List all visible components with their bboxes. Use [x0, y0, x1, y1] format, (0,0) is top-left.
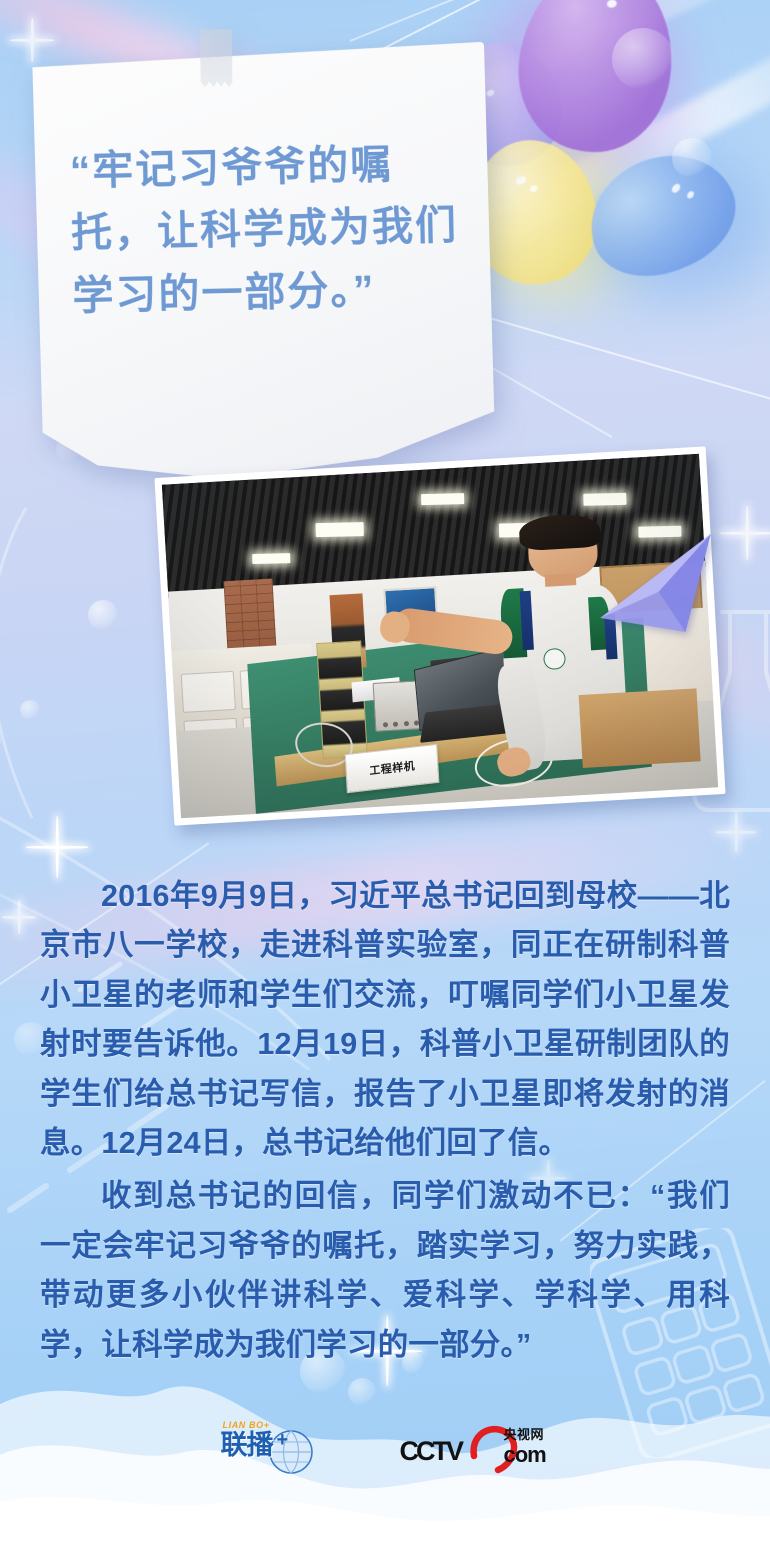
lianbo-plus-text: +	[277, 1430, 289, 1450]
quote-note: “牢记习爷爷的嘱托，让科学成为我们学习的一部分。”	[32, 42, 496, 484]
balloon-glow	[480, 0, 680, 180]
cctv-wordmark-text: CCTV	[400, 1438, 462, 1465]
lianbo-latin-text: LIAN BO+	[223, 1420, 270, 1430]
bokeh-circle	[88, 600, 118, 630]
lianbo-cn-text: 联播	[221, 1432, 273, 1459]
bokeh-circle	[20, 700, 40, 720]
footer-logos: LIAN BO+ 联播 + CCTV 央视网 com	[0, 1418, 770, 1480]
logo-divider	[361, 1432, 362, 1466]
poster-root: “牢记习爷爷的嘱托，让科学成为我们学习的一部分。”	[0, 0, 770, 1545]
bokeh-circle	[672, 138, 712, 178]
lianbo-logo[interactable]: LIAN BO+ 联播 +	[219, 1418, 323, 1480]
balloon-glow	[590, 150, 770, 300]
sparkle-icon	[720, 506, 770, 560]
bokeh-circle	[348, 1378, 376, 1406]
cctv-com-text: com	[504, 1444, 546, 1466]
atom-doodle-icon	[0, 500, 164, 830]
cctv-logo[interactable]: CCTV 央视网 com	[400, 1422, 552, 1476]
paragraph: 收到总书记的回信，同学们激动不已：“我们一定会牢记习爷爷的嘱托，踏实学习，努力实…	[40, 1172, 730, 1370]
sparkle-icon	[716, 812, 756, 852]
paper-plane-icon	[592, 526, 719, 640]
tape-strip-icon	[200, 29, 233, 87]
guide-line	[350, 0, 770, 42]
balloon-purple-icon	[508, 0, 684, 162]
cctv-cn-text: 央视网	[504, 1428, 545, 1441]
sparkle-icon	[2, 900, 36, 934]
bokeh-circle	[612, 28, 674, 90]
article-body: 2016年9月9日，习近平总书记回到母校——北京市八一学校，走进科普实验室，同正…	[40, 872, 730, 1374]
paragraph: 2016年9月9日，习近平总书记回到母校——北京市八一学校，走进科普实验室，同正…	[40, 872, 730, 1168]
balloon-glow	[470, 140, 640, 300]
quote-text: “牢记习爷爷的嘱托，让科学成为我们学习的一部分。”	[69, 132, 463, 327]
balloon-blue-icon	[572, 134, 752, 295]
sparkle-icon	[26, 816, 88, 878]
